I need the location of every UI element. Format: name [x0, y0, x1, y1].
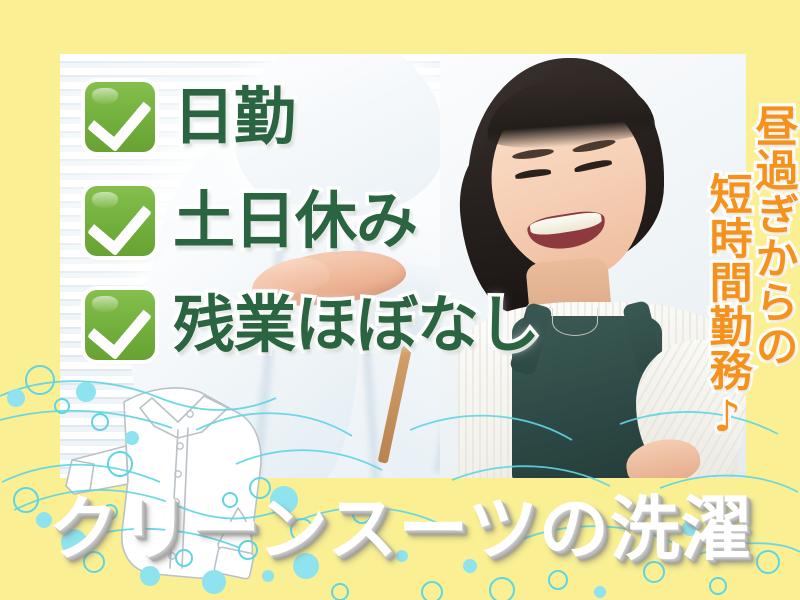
- bubble: [54, 398, 70, 414]
- bubble: [594, 586, 606, 598]
- feature-label-0: 日勤: [173, 86, 295, 148]
- green-check-box-icon: [85, 186, 155, 256]
- feature-label-2: 残業ほぼなし: [173, 294, 539, 356]
- bubble: [262, 570, 274, 582]
- bubble: [25, 365, 55, 395]
- job-ad-banner: 日勤 土日休み 残業ほぼなし 短時間勤務♪ 昼過ぎからの クリーンスーツの洗濯: [0, 0, 800, 600]
- check-mark-icon: [87, 85, 152, 152]
- bubble: [709, 577, 727, 595]
- green-check-box-icon: [85, 82, 155, 152]
- vertical-catchphrase: 短時間勤務♪ 昼過ぎからの: [704, 104, 794, 443]
- bubble: [421, 581, 443, 600]
- green-check-box-icon: [85, 290, 155, 360]
- woman-necklace: [552, 308, 598, 336]
- bubble: [489, 577, 515, 600]
- bubble: [331, 583, 349, 600]
- bubble: [125, 431, 139, 445]
- check-mark-icon: [87, 293, 152, 360]
- feature-item-1: 土日休み: [85, 186, 417, 256]
- bubble: [202, 570, 226, 594]
- bubble: [107, 451, 133, 477]
- vertical-text-column-0: 昼過ぎからの: [750, 104, 794, 368]
- vertical-text-column-1: 短時間勤務♪: [704, 172, 748, 443]
- bubble: [76, 382, 96, 402]
- bubble: [91, 413, 109, 431]
- smiling-woman: [440, 54, 746, 478]
- check-mark-icon: [87, 189, 152, 256]
- page-title: クリーンスーツの洗濯: [0, 494, 800, 564]
- bubble: [7, 389, 25, 407]
- feature-item-0: 日勤: [85, 82, 295, 152]
- bubble: [548, 570, 568, 590]
- feature-label-1: 土日休み: [173, 190, 417, 252]
- feature-item-2: 残業ほぼなし: [85, 290, 539, 360]
